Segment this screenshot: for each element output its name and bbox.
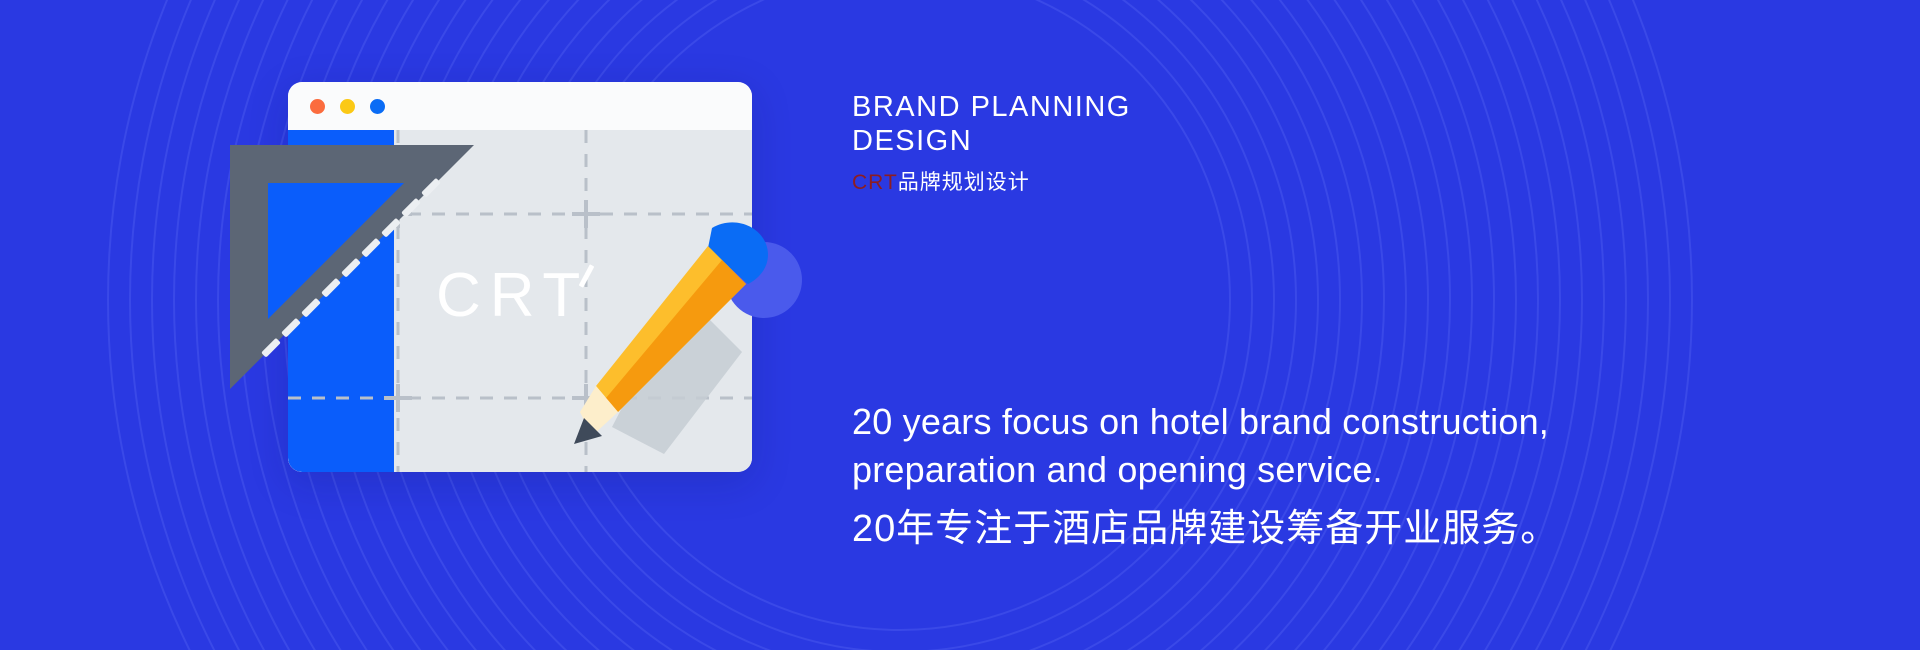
kicker-title-line1: BRAND PLANNING — [852, 90, 1372, 124]
browser-title-bar — [288, 82, 752, 130]
close-dot-icon[interactable] — [310, 99, 325, 114]
kicker-block: BRAND PLANNING DESIGN CRT品牌规划设计 — [852, 90, 1372, 196]
kicker-title-line2: DESIGN — [852, 124, 1372, 158]
headline-en-line1: 20 years focus on hotel brand constructi… — [852, 398, 1692, 446]
headline-block: 20 years focus on hotel brand constructi… — [852, 398, 1692, 554]
pencil-icon — [572, 222, 782, 462]
kicker-subtitle: CRT品牌规划设计 — [852, 166, 1372, 196]
headline-en-line2: preparation and opening service. — [852, 446, 1692, 494]
hero-banner: CRT — [0, 0, 1920, 650]
minimize-dot-icon[interactable] — [340, 99, 355, 114]
brand-design-illustration: CRT — [232, 82, 752, 562]
headline-cn-line: 20年专注于酒店品牌建设筹备开业服务。 — [852, 504, 1692, 554]
kicker-subtitle-cn: 品牌规划设计 — [898, 171, 1030, 194]
kicker-brand-crt: CRT — [852, 171, 898, 194]
maximize-dot-icon[interactable] — [370, 99, 385, 114]
set-square-ruler-icon — [222, 137, 482, 407]
